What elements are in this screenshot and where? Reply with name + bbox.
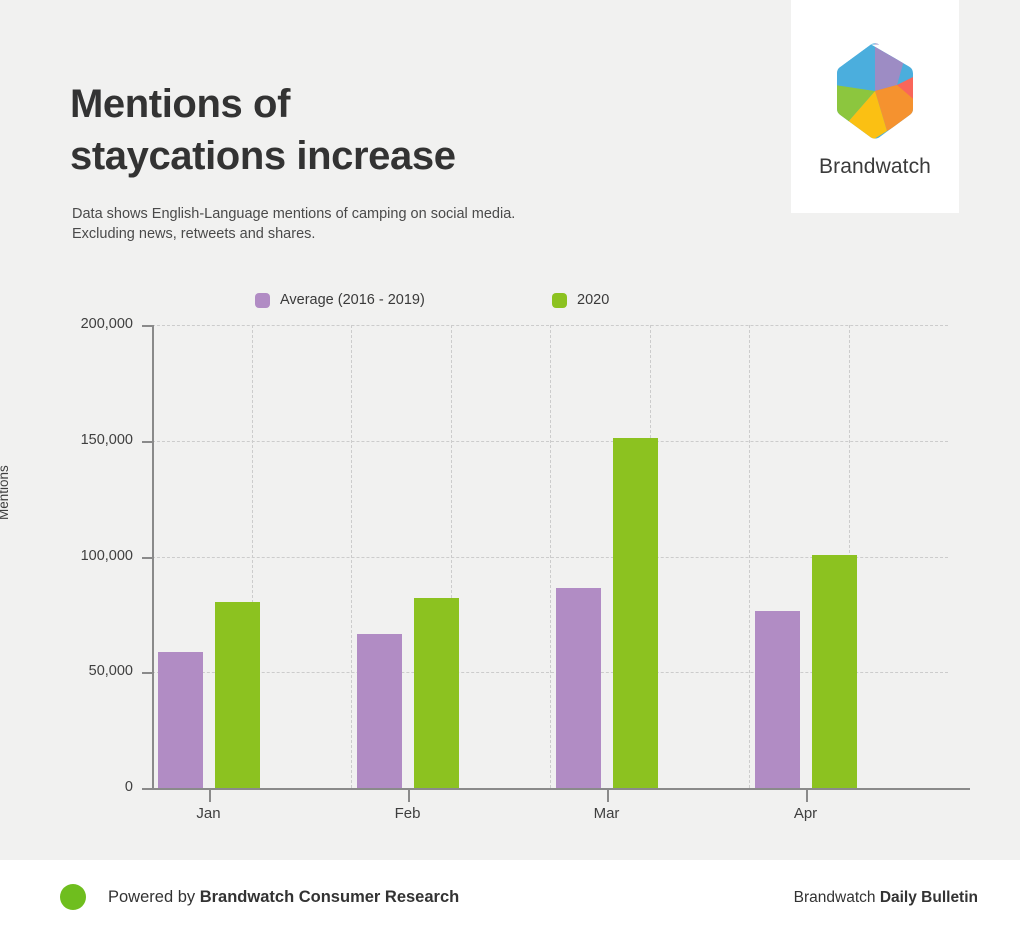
x-axis-tick-mark	[607, 789, 609, 802]
bar-apr-average[interactable]	[755, 611, 800, 788]
footer-powered-by-text: Powered by Brandwatch Consumer Research	[108, 888, 459, 907]
bar-feb-y2020[interactable]	[414, 598, 459, 788]
footer-daily-bulletin: Brandwatch Daily Bulletin	[794, 889, 978, 907]
y-axis-tick-mark	[142, 325, 153, 327]
bar-feb-average[interactable]	[357, 634, 402, 788]
y-axis-tick-mark	[142, 672, 153, 674]
y-axis-tick-label: 0	[125, 779, 133, 795]
gridline-vertical	[749, 325, 750, 788]
y-axis-tick-label: 200,000	[81, 316, 133, 332]
x-axis-tick-label-mar: Mar	[594, 805, 620, 822]
y-axis-tick-label: 100,000	[81, 548, 133, 564]
y-axis-tick-mark	[142, 788, 153, 790]
x-axis-tick-label-apr: Apr	[794, 805, 817, 822]
footer-dot-icon	[60, 884, 86, 910]
gridline-vertical	[351, 325, 352, 788]
footer-powered-by: Powered by Brandwatch Consumer Research	[60, 884, 459, 910]
y-axis-tick-label: 150,000	[81, 432, 133, 448]
bar-mar-y2020[interactable]	[613, 438, 658, 788]
footer-right-brand: Daily Bulletin	[880, 889, 978, 906]
footer: Powered by Brandwatch Consumer Research …	[0, 860, 1020, 940]
y-axis-tick-label: 50,000	[89, 663, 133, 679]
chart-plot-area	[152, 325, 948, 788]
x-axis-tick-label-feb: Feb	[395, 805, 421, 822]
x-axis-tick-mark	[806, 789, 808, 802]
gridline-vertical	[550, 325, 551, 788]
x-axis-tick-label-jan: Jan	[196, 805, 220, 822]
bar-mar-average[interactable]	[556, 588, 601, 788]
x-axis-tick-mark	[408, 789, 410, 802]
bar-chart: Mentions 050,000100,000150,000200,000Jan…	[0, 0, 1020, 860]
bar-jan-average[interactable]	[158, 652, 203, 788]
bar-jan-y2020[interactable]	[215, 602, 260, 788]
footer-powered-by-prefix: Powered by	[108, 888, 200, 906]
footer-right-prefix: Brandwatch	[794, 889, 880, 906]
x-axis-tick-mark	[209, 789, 211, 802]
infographic-root: Brandwatch Mentions of staycations incre…	[0, 0, 1020, 940]
footer-powered-by-brand: Brandwatch Consumer Research	[200, 888, 460, 906]
y-axis-title: Mentions	[0, 465, 11, 520]
y-axis-tick-mark	[142, 441, 153, 443]
y-axis-tick-mark	[142, 557, 153, 559]
bar-apr-y2020[interactable]	[812, 555, 857, 788]
x-axis-line	[152, 788, 970, 790]
